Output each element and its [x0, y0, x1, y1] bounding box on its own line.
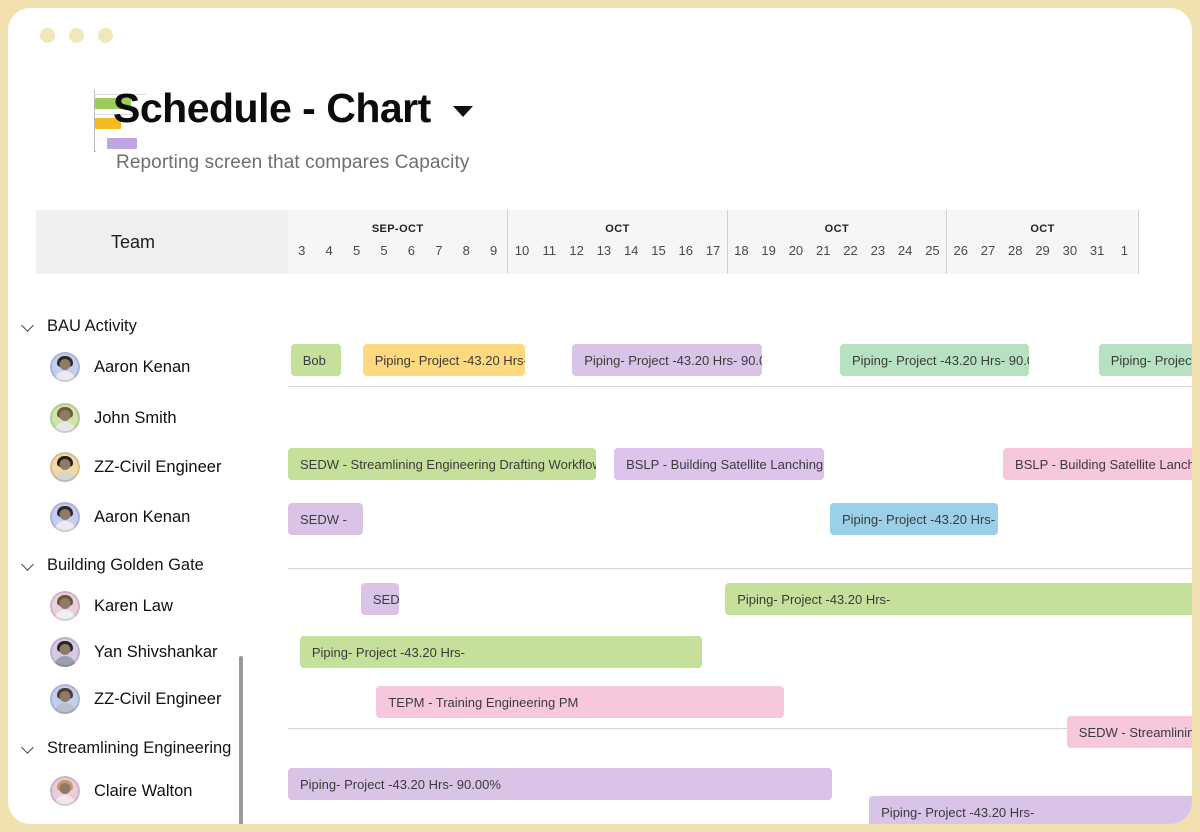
- gantt-bar[interactable]: Bob: [291, 344, 341, 376]
- sidebar-item-aaron-kenan[interactable]: Aaron Kenan: [50, 500, 190, 534]
- gantt-bar[interactable]: BSLP - Building Satellite Lanching: [1003, 448, 1192, 480]
- day-cell[interactable]: 28: [1002, 243, 1029, 267]
- gantt-bar[interactable]: Piping- Project -43.20 Hrs-: [1099, 344, 1192, 376]
- sidebar-item-label: John Smith: [94, 409, 177, 428]
- day-cell[interactable]: 7: [425, 243, 452, 267]
- gantt-bar[interactable]: Piping- Project -43.20 Hrs-: [830, 503, 999, 535]
- month-group: OCT1819202122232425: [727, 210, 946, 274]
- window-titlebar: [8, 8, 1192, 70]
- gantt-bar[interactable]: BSLP - Building Satellite Lanching: [614, 448, 824, 480]
- day-cell[interactable]: 1: [1111, 243, 1138, 267]
- gantt-bar[interactable]: Piping- Project -43.20 Hrs- 90.00%: [572, 344, 761, 376]
- gantt-bar[interactable]: SED: [361, 583, 399, 615]
- timeline-header: Team SEP-OCT34556789OCT1011121314151617O…: [36, 210, 1138, 274]
- avatar: [50, 403, 80, 433]
- date-scale: SEP-OCT34556789OCT1011121314151617OCT181…: [288, 210, 1138, 274]
- day-cell[interactable]: 12: [563, 243, 590, 267]
- sidebar-group-label: Streamlining Engineering: [47, 739, 231, 758]
- page-title: Schedule - Chart: [113, 88, 431, 129]
- sidebar-item-label: Karen Law: [94, 597, 173, 616]
- sidebar-item-label: Aaron Kenan: [94, 358, 190, 377]
- day-cell[interactable]: 5: [343, 243, 370, 267]
- chevron-down-icon[interactable]: [22, 559, 35, 572]
- day-cell[interactable]: 20: [782, 243, 809, 267]
- close-window-button[interactable]: [40, 28, 55, 43]
- sidebar-item-zz-civil-engineer[interactable]: ZZ-Civil Engineer: [50, 450, 221, 484]
- month-label: OCT: [947, 223, 1138, 235]
- sidebar-item-label: Yan Shivshankar: [94, 643, 218, 662]
- gantt-chart-area[interactable]: BobPiping- Project -43.20 Hrs-Piping- Pr…: [288, 298, 1192, 824]
- sidebar-group-building-golden-gate[interactable]: Building Golden Gate: [22, 553, 204, 577]
- month-label: SEP-OCT: [288, 223, 507, 235]
- avatar: [50, 591, 80, 621]
- sidebar-item-claire-walton[interactable]: Claire Walton: [50, 774, 192, 808]
- day-cell[interactable]: 31: [1083, 243, 1110, 267]
- day-row: 1011121314151617: [508, 243, 726, 267]
- gantt-bar[interactable]: Piping- Project -43.20 Hrs-: [725, 583, 1192, 615]
- month-group: OCT1011121314151617: [507, 210, 726, 274]
- sidebar-item-john-smith[interactable]: John Smith: [50, 401, 177, 435]
- chart-logo-icon: [44, 90, 96, 152]
- avatar: [50, 776, 80, 806]
- sidebar-item-label: Claire Walton: [94, 782, 192, 801]
- day-cell[interactable]: 8: [453, 243, 480, 267]
- day-row: 1819202122232425: [728, 243, 946, 267]
- sidebar-group-label: Building Golden Gate: [47, 556, 204, 575]
- gantt-bar[interactable]: SEDW - Streamlining Engineering Drafting…: [288, 448, 596, 480]
- sidebar-item-label: ZZ-Civil Engineer: [94, 458, 221, 477]
- sidebar-group-label: BAU Activity: [47, 317, 137, 336]
- gantt-bar[interactable]: TEPM - Training Engineering PM: [376, 686, 783, 718]
- page-subtitle: Reporting screen that compares Capacity: [116, 152, 469, 174]
- day-row: 2627282930311: [947, 243, 1138, 267]
- day-cell[interactable]: 25: [919, 243, 946, 267]
- maximize-window-button[interactable]: [98, 28, 113, 43]
- row-separator: [288, 386, 1192, 387]
- day-cell[interactable]: 17: [699, 243, 726, 267]
- sidebar-group-bau-activity[interactable]: BAU Activity: [22, 314, 137, 338]
- chevron-down-icon[interactable]: [453, 106, 473, 117]
- team-sidebar[interactable]: BAU ActivityAaron KenanJohn SmithZZ-Civi…: [8, 298, 288, 824]
- day-cell[interactable]: 6: [398, 243, 425, 267]
- day-cell[interactable]: 26: [947, 243, 974, 267]
- sidebar-group-streamlining-engineering[interactable]: Streamlining Engineering: [22, 736, 231, 760]
- schedule-body: BAU ActivityAaron KenanJohn SmithZZ-Civi…: [8, 298, 1192, 824]
- day-cell[interactable]: 11: [536, 243, 563, 267]
- sidebar-item-karen-law[interactable]: Karen Law: [50, 589, 173, 623]
- day-cell[interactable]: 4: [315, 243, 342, 267]
- month-group: OCT2627282930311: [946, 210, 1138, 274]
- sidebar-vertical-scrollbar[interactable]: [239, 656, 243, 824]
- sidebar-item-label: ZZ-Civil Engineer: [94, 690, 221, 709]
- chevron-down-icon[interactable]: [22, 320, 35, 333]
- gantt-bar[interactable]: Piping- Project -43.20 Hrs-: [869, 796, 1192, 824]
- avatar: [50, 352, 80, 382]
- row-separator: [288, 568, 1192, 569]
- row-separator: [288, 728, 1192, 729]
- gantt-bar[interactable]: Piping- Project -43.20 Hrs-: [363, 344, 525, 376]
- avatar: [50, 637, 80, 667]
- day-cell[interactable]: 14: [618, 243, 645, 267]
- day-cell[interactable]: 19: [755, 243, 782, 267]
- day-cell[interactable]: 18: [728, 243, 755, 267]
- minimize-window-button[interactable]: [69, 28, 84, 43]
- day-cell[interactable]: 29: [1029, 243, 1056, 267]
- day-cell[interactable]: 24: [891, 243, 918, 267]
- day-row: 34556789: [288, 243, 507, 267]
- day-cell[interactable]: 10: [508, 243, 535, 267]
- avatar: [50, 452, 80, 482]
- day-cell[interactable]: 30: [1056, 243, 1083, 267]
- gantt-bar[interactable]: SEDW -: [288, 503, 363, 535]
- chevron-down-icon[interactable]: [22, 742, 35, 755]
- day-cell[interactable]: 9: [480, 243, 507, 267]
- month-label: OCT: [508, 223, 726, 235]
- sidebar-item-label: Aaron Kenan: [94, 508, 190, 527]
- day-cell[interactable]: 27: [974, 243, 1001, 267]
- page-header: Schedule - Chart Reporting screen that c…: [8, 70, 1192, 198]
- day-cell[interactable]: 5: [370, 243, 397, 267]
- day-cell[interactable]: 16: [672, 243, 699, 267]
- app-window: Schedule - Chart Reporting screen that c…: [8, 8, 1192, 824]
- sidebar-item-yan-shivshankar[interactable]: Yan Shivshankar: [50, 635, 218, 669]
- scale-end-divider: [1138, 210, 1139, 274]
- gantt-bar[interactable]: SEDW - Streamlining Engineering Drafting…: [1067, 716, 1192, 748]
- day-cell[interactable]: 3: [288, 243, 315, 267]
- day-cell[interactable]: 13: [590, 243, 617, 267]
- avatar: [50, 684, 80, 714]
- avatar: [50, 502, 80, 532]
- sidebar-item-zz-civil-engineer[interactable]: ZZ-Civil Engineer: [50, 682, 221, 716]
- gantt-bar[interactable]: Piping- Project -43.20 Hrs- 90.00%: [840, 344, 1029, 376]
- sidebar-item-aaron-kenan[interactable]: Aaron Kenan: [50, 350, 190, 384]
- day-cell[interactable]: 23: [864, 243, 891, 267]
- gantt-bar[interactable]: Piping- Project -43.20 Hrs- 90.00%: [288, 768, 832, 800]
- gantt-bar[interactable]: Piping- Project -43.20 Hrs-: [300, 636, 703, 668]
- month-label: OCT: [728, 223, 946, 235]
- month-group: SEP-OCT34556789: [288, 210, 507, 274]
- day-cell[interactable]: 21: [810, 243, 837, 267]
- team-column-header: Team: [36, 210, 288, 274]
- day-cell[interactable]: 22: [837, 243, 864, 267]
- day-cell[interactable]: 15: [645, 243, 672, 267]
